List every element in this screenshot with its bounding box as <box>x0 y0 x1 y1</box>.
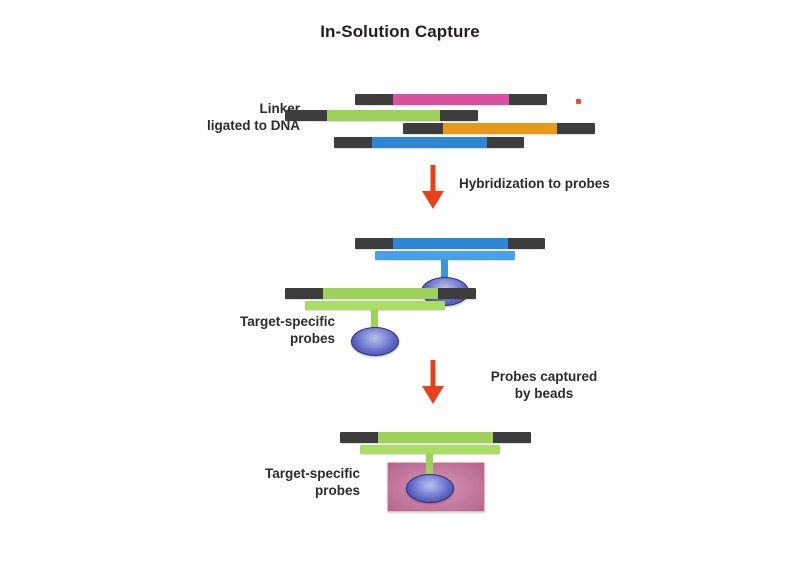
linker-segment-right <box>487 137 524 148</box>
dna-body-blue <box>372 137 487 148</box>
linker-segment-right <box>509 94 547 105</box>
dna-body-green <box>323 288 438 299</box>
linker-segment-right <box>438 288 476 299</box>
linker-segment-left <box>340 432 378 443</box>
linker-segment-left <box>403 123 443 134</box>
linker-segment-left <box>355 238 393 249</box>
page-title: In-Solution Capture <box>0 22 800 42</box>
arrow-capture <box>422 360 444 404</box>
linker-segment-right <box>493 432 531 443</box>
label-target-specific-probes-2: Target-specific probes <box>230 465 360 500</box>
linker-segment-right <box>440 110 478 121</box>
arrow-head <box>422 386 444 404</box>
dna-body-green <box>378 432 493 443</box>
label-linker-ligated-to-dna: Linker ligated to DNA <box>165 100 300 135</box>
arrow-shaft <box>431 165 436 193</box>
green-dna-fragment <box>285 110 478 121</box>
arrow-head <box>422 191 444 209</box>
streptavidin-bead-icon <box>406 474 454 503</box>
hybridized-strand-top <box>355 238 545 249</box>
dna-body-blue <box>393 238 508 249</box>
hybridized-strand-top <box>285 288 476 299</box>
linker-segment-right <box>508 238 545 249</box>
blue-dna-fragment <box>334 137 524 148</box>
linker-segment-right <box>557 123 595 134</box>
arrow-shaft <box>431 360 436 388</box>
linker-segment-left <box>285 110 327 121</box>
in-solution-capture-figure: In-Solution Capture Linker ligated to DN… <box>0 0 800 565</box>
dna-body-green <box>327 110 440 121</box>
label-probes-captured-by-beads: Probes captured by beads <box>459 368 629 403</box>
green-probe-assembly-captured <box>340 432 540 512</box>
magenta-dna-fragment <box>355 94 547 105</box>
orange-dna-fragment <box>403 123 595 134</box>
label-target-specific-probes-1: Target-specific probes <box>205 313 335 348</box>
arrow-hybridization <box>422 165 444 209</box>
dna-body-orange <box>443 123 557 134</box>
linker-segment-left <box>334 137 372 148</box>
label-hybridization-to-probes: Hybridization to probes <box>459 175 679 192</box>
linker-segment-left <box>285 288 323 299</box>
hybridized-strand-top <box>340 432 531 443</box>
dna-body-magenta <box>393 94 509 105</box>
linker-segment-left <box>355 94 393 105</box>
red-speck-artifact <box>576 99 581 104</box>
streptavidin-bead-icon <box>351 327 399 356</box>
